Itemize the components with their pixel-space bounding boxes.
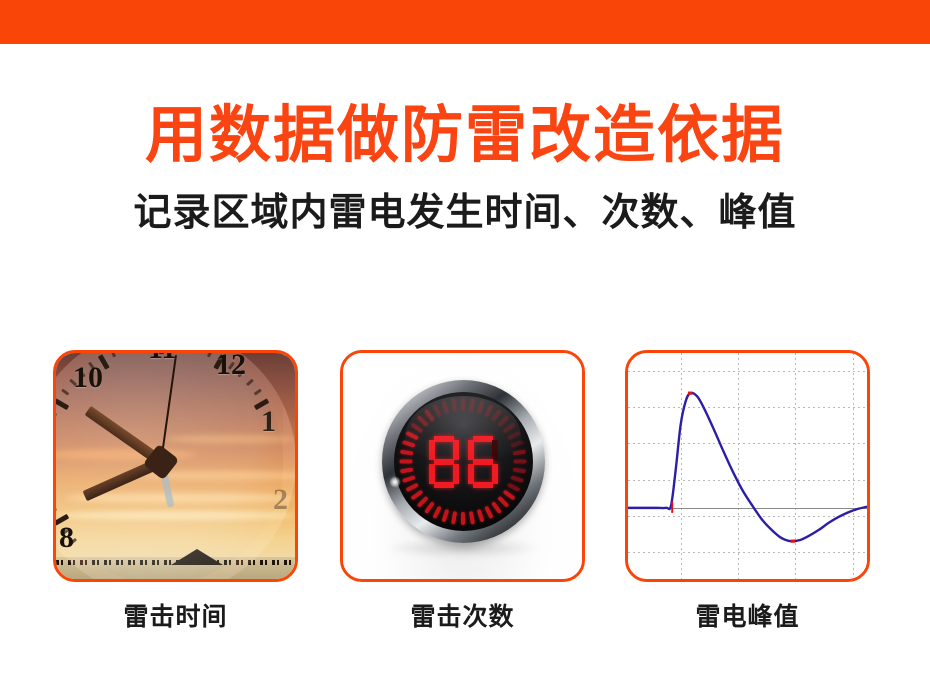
clock-numeral-11: 11 (148, 350, 176, 364)
waveform-chart (628, 353, 867, 579)
led-tick (441, 509, 449, 523)
waveform-plot (628, 353, 867, 579)
led-tick (469, 511, 475, 524)
clock-numeral-9: 9 (53, 439, 56, 469)
clock-tick-minor (122, 350, 127, 353)
segment-d (473, 482, 493, 488)
chrome-bezel (382, 380, 545, 543)
led-tick (497, 496, 509, 508)
caption-lightning-peak: 雷电峰值 (625, 598, 870, 636)
clock-numeral-12: 12 (216, 350, 246, 380)
segment-d (434, 482, 454, 488)
clock-dial-overlay: 8 9 10 11 12 1 2 (53, 350, 296, 582)
clock-numeral-10: 10 (73, 363, 103, 393)
led-tick (491, 501, 502, 514)
led-tick (451, 511, 457, 524)
heading-block: 用数据做防雷改造依据 记录区域内雷电发生时间、次数、峰值 (0, 100, 930, 238)
clock-tick-minor (110, 350, 116, 358)
caption-row: 雷击时间 雷击次数 雷电峰值 (53, 598, 873, 642)
clock-numeral-2: 2 (273, 485, 288, 515)
clock-tick-minor (206, 350, 212, 358)
card-lightning-peak[interactable] (625, 350, 870, 582)
counter-photo (343, 353, 582, 579)
segment-c (453, 464, 459, 484)
caption-lightning-time: 雷击时间 (53, 598, 298, 636)
caption-lightning-count: 雷击次数 (340, 598, 585, 636)
clock-photo: 8 9 10 11 12 1 2 (56, 353, 295, 579)
led-tick (484, 506, 493, 519)
clock-tick (53, 398, 68, 410)
top-accent-bar (0, 0, 930, 44)
page-title: 用数据做防雷改造依据 (0, 100, 930, 172)
led-tick (432, 506, 441, 519)
clock-tick-minor (195, 350, 200, 353)
clock-tick-minor (53, 411, 57, 417)
waveform-line (628, 393, 867, 541)
gauge-dial (394, 392, 533, 531)
clock-numeral-8: 8 (59, 523, 74, 553)
segment-e (429, 464, 435, 484)
feature-card-row: 8 9 10 11 12 1 2 (53, 350, 873, 586)
clock-tick-minor (61, 388, 69, 395)
promo-page: 用数据做防雷改造依据 记录区域内雷电发生时间、次数、峰值 (0, 0, 930, 676)
clock-tick-minor (245, 379, 253, 387)
clock-tick-minor (53, 507, 57, 513)
led-tick (424, 501, 435, 514)
led-tick (461, 512, 465, 525)
led-tick (477, 509, 485, 523)
clock-numeral-1: 1 (261, 407, 276, 437)
clock-tick-minor (253, 388, 261, 395)
bezel-highlight-spark (389, 476, 401, 488)
card-lightning-count[interactable] (340, 350, 585, 582)
segment-e (468, 464, 474, 484)
card-lightning-time[interactable]: 8 9 10 11 12 1 2 (53, 350, 298, 582)
page-subtitle: 记录区域内雷电发生时间、次数、峰值 (0, 188, 930, 238)
led-tick (503, 490, 516, 501)
marker-undershoot (791, 540, 795, 543)
segment-c (492, 464, 498, 484)
marker-peak (688, 392, 692, 395)
